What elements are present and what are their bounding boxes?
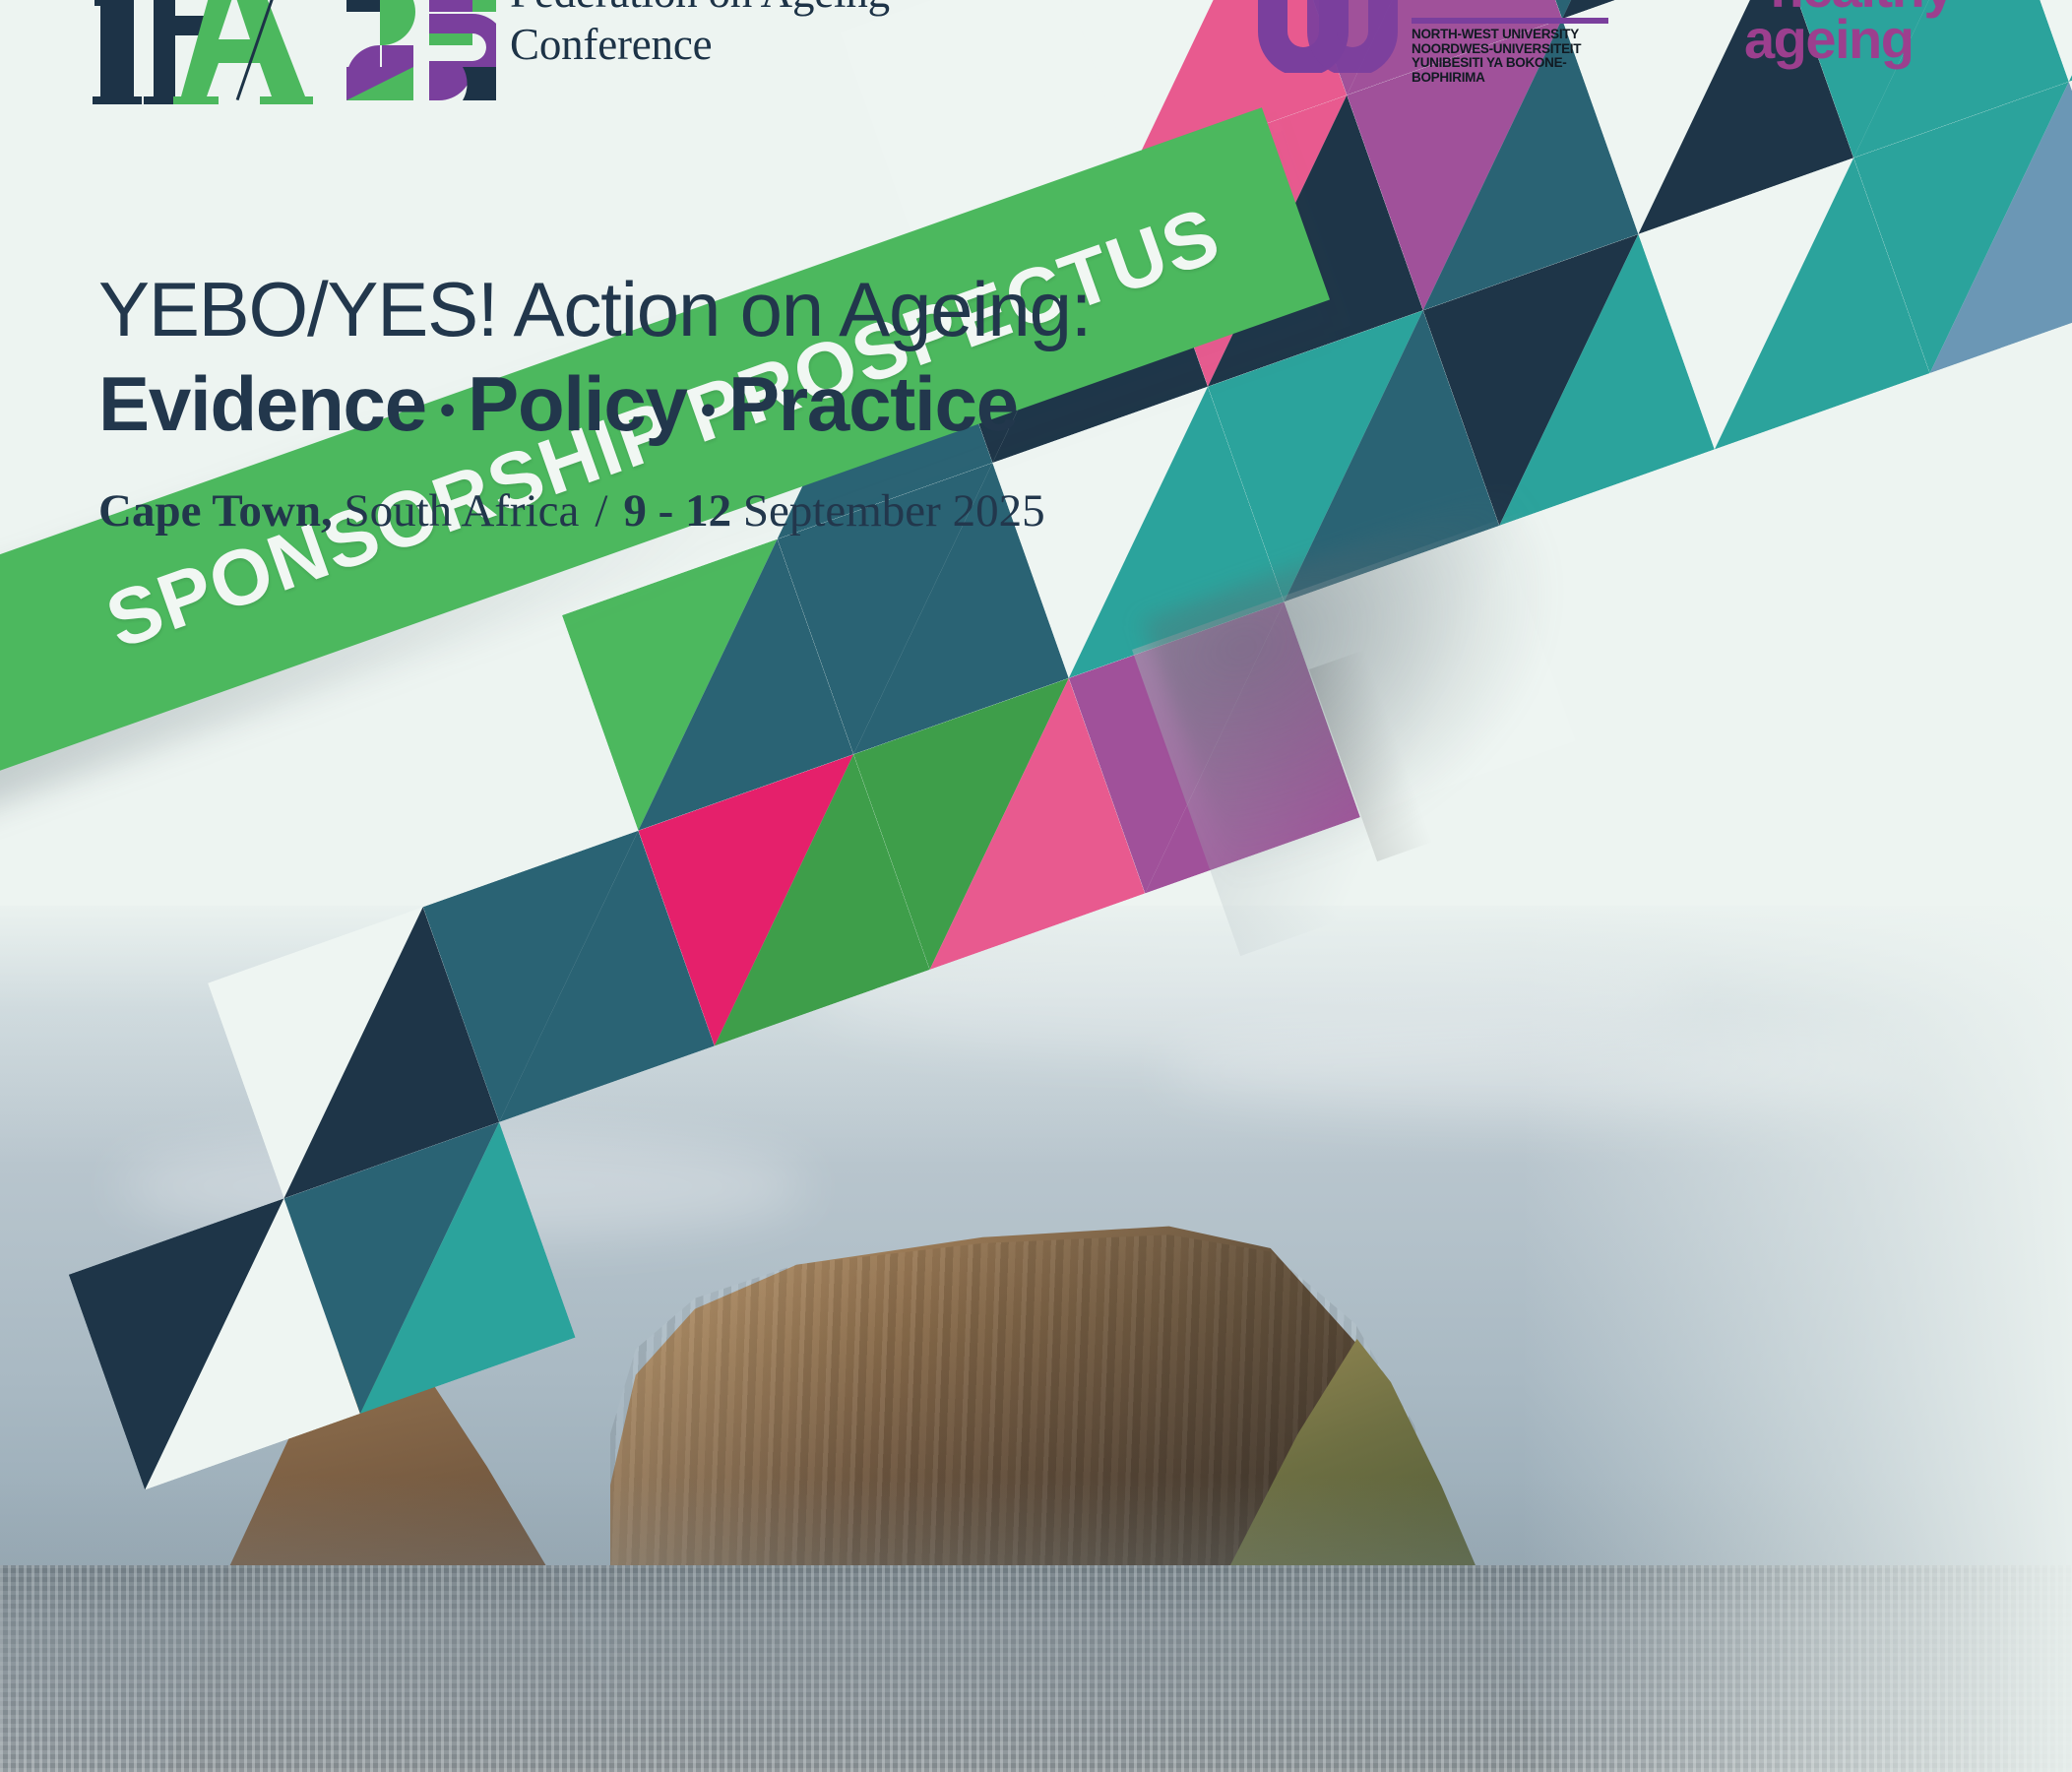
nwu-rule <box>1412 18 1608 24</box>
decade-healthy-ageing-logo: ofhealthy ageing <box>1744 0 1953 64</box>
title-block: YEBO/YES! Action on Ageing: Evidence•Pol… <box>98 268 1091 538</box>
nwu-subtitle-en: NORTH-WEST UNIVERSITY <box>1412 28 1638 42</box>
page-title-line2: Evidence•Policy•Practice <box>98 358 1091 449</box>
event-slash: / <box>579 485 623 537</box>
nwu-wordmark: NWU <box>1412 0 1583 10</box>
year-25-logo-svg <box>346 0 496 100</box>
poster-page: SPONSORSHIP PROSPECTUS YEBO/YES! Action … <box>0 0 2072 1772</box>
ifa-logo-svg <box>87 0 313 104</box>
conference-wordmark-line2: Conference <box>510 19 1022 71</box>
nwu-subtitle-tn: YUNIBESITI YA BOKONE-BOPHIRIMA <box>1412 56 1638 85</box>
conference-wordmark: Federation on Ageing Conference <box>510 0 1022 70</box>
event-location-date: Cape Town, South Africa/9 - 12 September… <box>98 484 1091 538</box>
title-separator-1: • <box>426 386 468 434</box>
event-date-range: 9 - 12 <box>623 485 731 537</box>
title-evidence: Evidence <box>98 360 426 447</box>
page-title-line1: YEBO/YES! Action on Ageing: <box>98 268 1091 350</box>
title-separator-2: • <box>687 386 728 434</box>
event-country: South Africa <box>344 485 579 537</box>
dha-ageing-label: ageing <box>1744 14 1953 65</box>
event-date-rest: September 2025 <box>743 485 1045 537</box>
title-practice: Practice <box>728 360 1018 447</box>
ifa-logo <box>87 0 313 104</box>
nwu-mark-icon <box>1252 0 1402 73</box>
event-city: Cape Town, <box>98 485 333 537</box>
nwu-logo: NWU ® NORTH-WEST UNIVERSITY NOORDWES-UNI… <box>1252 0 1606 89</box>
photo-right-fade <box>1521 906 2072 1772</box>
title-policy: Policy <box>468 360 687 447</box>
year-25-logo <box>346 0 496 100</box>
header-logo-bar: Federation on Ageing Conference NWU ® NO… <box>0 0 2072 118</box>
conference-wordmark-line1: Federation on Ageing <box>510 0 1022 19</box>
nwu-subtitle: NORTH-WEST UNIVERSITY NOORDWES-UNIVERSIT… <box>1412 28 1638 85</box>
nwu-mark-svg <box>1252 0 1402 73</box>
nwu-subtitle-af: NOORDWES-UNIVERSITEIT <box>1412 42 1638 57</box>
